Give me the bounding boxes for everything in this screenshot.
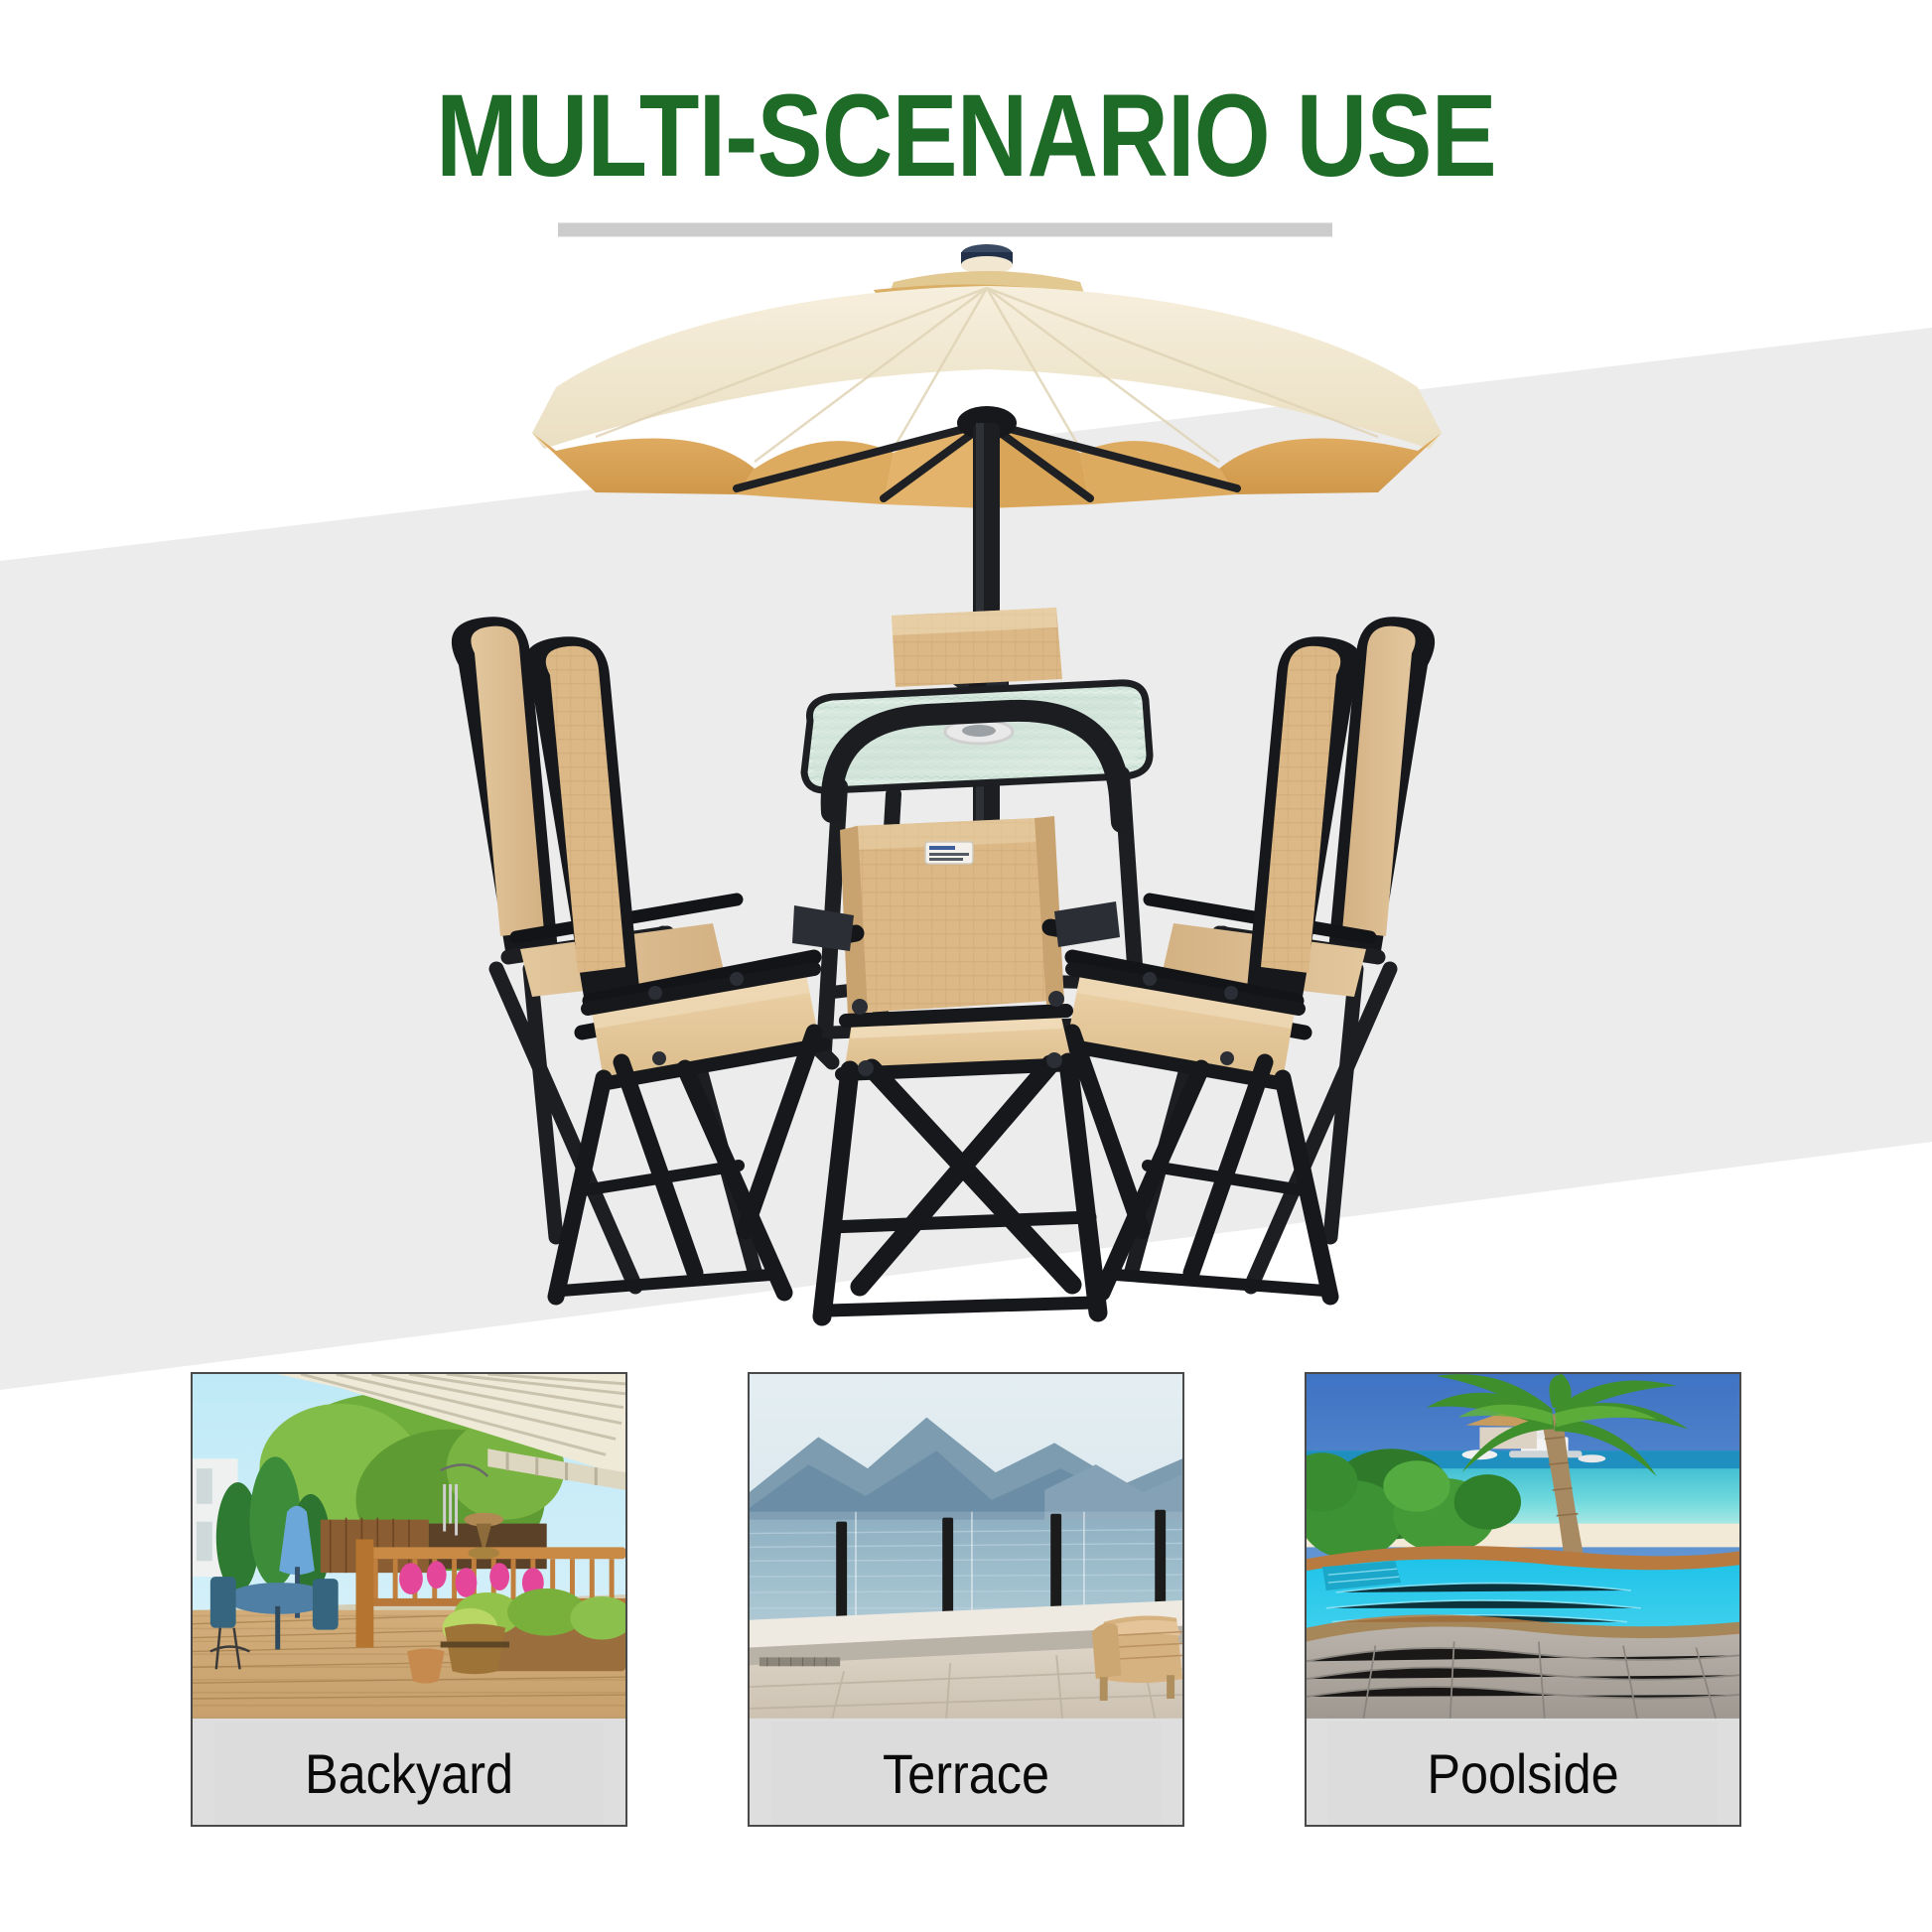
hero-product-image <box>0 238 1932 1350</box>
scenario-caption-poolside: Poolside <box>1328 1722 1718 1825</box>
title-divider <box>558 222 1332 237</box>
backyard-photo <box>193 1374 625 1722</box>
brand-label <box>925 842 973 864</box>
header: MULTI-SCENARIO USE <box>0 0 1932 258</box>
scenario-caption-backyard: Backyard <box>214 1722 604 1825</box>
scenario-caption-terrace: Terrace <box>771 1722 1161 1825</box>
scenario-card-backyard[interactable]: Backyard <box>191 1372 627 1827</box>
terrace-photo <box>750 1374 1182 1722</box>
scenario-card-poolside[interactable]: Poolside <box>1305 1372 1741 1827</box>
page-title: MULTI-SCENARIO USE <box>155 77 1778 195</box>
poolside-photo <box>1307 1374 1739 1722</box>
scenario-card-list: Backyard <box>191 1372 1741 1827</box>
folding-chair-left <box>452 617 824 1297</box>
scenario-card-terrace[interactable]: Terrace <box>748 1372 1184 1827</box>
